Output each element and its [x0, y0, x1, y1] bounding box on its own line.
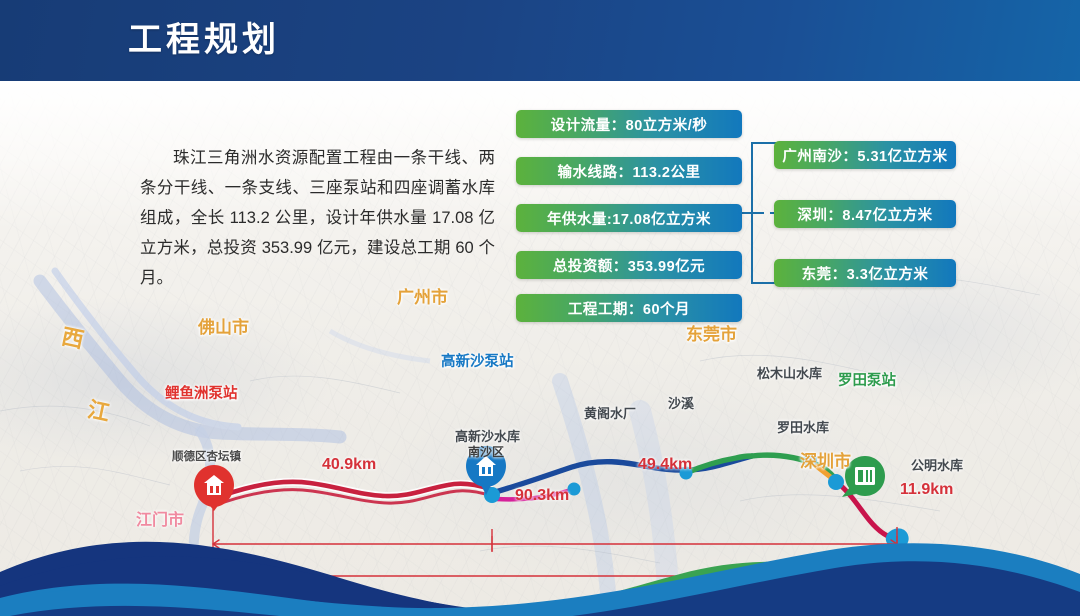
spec-chip-total-investment[interactable]: 总投资额：353.99亿元	[516, 251, 742, 279]
map-node-songmushan-reservoir: 松木山水库	[757, 363, 822, 382]
spec-chip-annual-supply[interactable]: 年供水量:17.08亿立方米	[516, 204, 742, 232]
bracket-connector	[742, 140, 778, 290]
supply-chip-guangzhou-nansha[interactable]: 广州南沙：5.31亿立方米	[774, 141, 956, 169]
map-city-foshan: 佛山市	[198, 313, 249, 338]
map-station-luotian-label: 罗田泵站	[838, 369, 896, 390]
map-node-shunde-xingtan: 顺德区杏坛镇	[172, 448, 241, 464]
intro-paragraph: 珠江三角洲水资源配置工程由一条干线、两条分干线、一条支线、三座泵站和四座调蓄水库…	[140, 143, 495, 293]
distance-49-4km: 49.4km	[638, 456, 692, 474]
supply-chip-dongguan[interactable]: 东莞：3.3亿立方米	[774, 259, 956, 287]
spec-chip-construction-period[interactable]: 工程工期：60个月	[516, 294, 742, 322]
distance-11-9km: 11.9km	[900, 481, 953, 499]
map-node-nansha-district: 南沙区	[468, 443, 504, 460]
map-node-luotian-reservoir: 罗田水库	[777, 417, 829, 436]
map-city-dongguan: 东莞市	[686, 320, 737, 345]
map-node-gongming-reservoir: 公明水库	[911, 455, 963, 474]
map-node-shaxi: 沙溪	[668, 393, 694, 412]
header-bar: 工程规划	[0, 0, 1080, 81]
map-station-gaoxinsha-label: 高新沙泵站	[441, 350, 514, 371]
distance-40-9km: 40.9km	[322, 456, 376, 474]
map-station-liyuzhou-label: 鲤鱼洲泵站	[165, 382, 238, 403]
spec-chip-pipeline-length[interactable]: 输水线路：113.2公里	[516, 157, 742, 185]
map-city-shenzhen: 深圳市	[800, 447, 851, 472]
slide-root: 工程规划	[0, 0, 1080, 616]
spec-chip-design-flow[interactable]: 设计流量：80立方米/秒	[516, 110, 742, 138]
page-title: 工程规划	[128, 18, 280, 62]
supply-chip-shenzhen[interactable]: 深圳：8.47亿立方米	[774, 200, 956, 228]
bottom-wave-decoration	[0, 500, 1080, 616]
map-node-huangge-waterworks: 黄阁水厂	[584, 403, 636, 422]
